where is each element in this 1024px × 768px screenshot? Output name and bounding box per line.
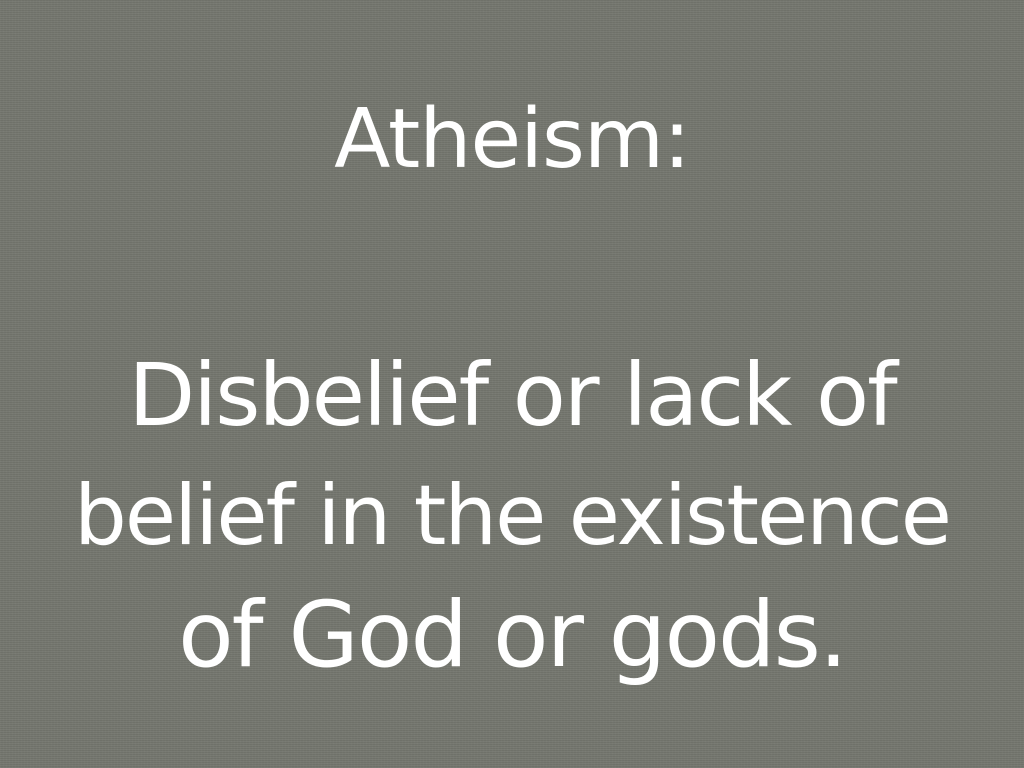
body-line-2: belief in the existence xyxy=(0,456,1024,576)
slide-body-text: Disbelief or lack of belief in the exist… xyxy=(0,336,1024,696)
slide-content: Atheism: Disbelief or lack of belief in … xyxy=(0,0,1024,768)
body-line-3: of God or gods. xyxy=(0,576,1024,696)
body-line-1: Disbelief or lack of xyxy=(0,336,1024,456)
presentation-slide: Atheism: Disbelief or lack of belief in … xyxy=(0,0,1024,768)
slide-title: Atheism: xyxy=(0,92,1024,188)
